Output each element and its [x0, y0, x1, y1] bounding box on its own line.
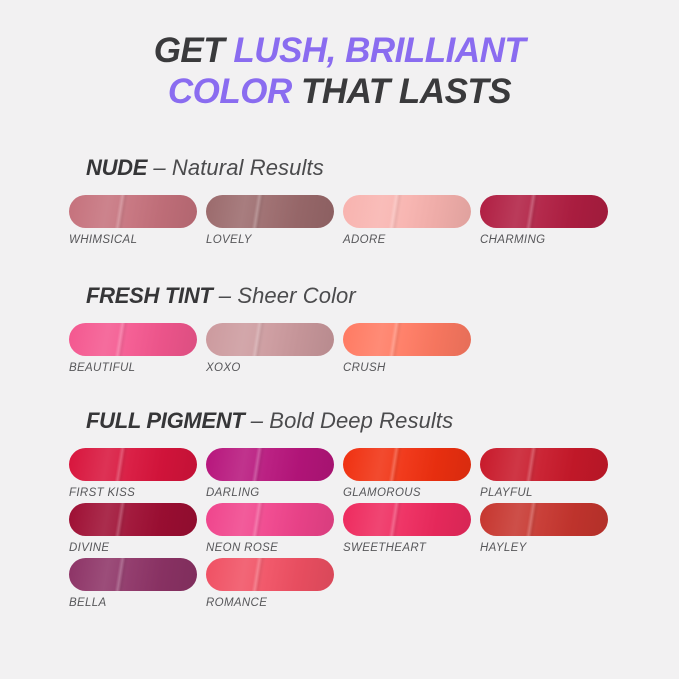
swatch-name-label: FIRST KISS — [69, 487, 197, 499]
swatch-item-playful[interactable]: PLAYFUL — [480, 448, 608, 499]
swatch-name-label: ADORE — [343, 234, 471, 246]
headline-get: GET — [154, 31, 234, 70]
swatch-row: BELLAROMANCE — [69, 558, 679, 613]
swatch-item-glamorous[interactable]: GLAMOROUS — [343, 448, 471, 499]
shade-chart-page: GET LUSH, BRILLIANT COLOR THAT LASTS NUD… — [0, 0, 679, 679]
swatch-item-sweetheart[interactable]: SWEETHEART — [343, 503, 471, 554]
section-subtitle-label: – Natural Results — [147, 155, 324, 180]
swatch-item-whimsical[interactable]: WHIMSICAL — [69, 195, 197, 246]
swatch-item-bella[interactable]: BELLA — [69, 558, 197, 609]
headline-color: COLOR — [168, 72, 292, 111]
headline-line-1: GET LUSH, BRILLIANT — [0, 30, 679, 71]
section-heading: FRESH TINT – Sheer Color — [0, 283, 679, 309]
swatch-name-label: SWEETHEART — [343, 542, 471, 554]
section-category-label: NUDE — [86, 155, 147, 180]
section-heading: NUDE – Natural Results — [0, 155, 679, 181]
swatch-color-chip[interactable] — [69, 323, 197, 356]
swatch-row: BEAUTIFULXOXOCRUSH — [69, 323, 679, 378]
swatch-name-label: ROMANCE — [206, 597, 334, 609]
swatch-name-label: DARLING — [206, 487, 334, 499]
swatch-name-label: CRUSH — [343, 362, 471, 374]
swatch-name-label: LOVELY — [206, 234, 334, 246]
section-category-label: FULL PIGMENT — [86, 408, 245, 433]
swatch-item-adore[interactable]: ADORE — [343, 195, 471, 246]
section-heading: FULL PIGMENT – Bold Deep Results — [0, 408, 679, 434]
swatch-color-chip[interactable] — [343, 323, 471, 356]
swatch-color-chip[interactable] — [206, 503, 334, 536]
swatch-row: WHIMSICALLOVELYADORECHARMING — [69, 195, 679, 250]
swatch-name-label: DIVINE — [69, 542, 197, 554]
swatch-item-darling[interactable]: DARLING — [206, 448, 334, 499]
swatch-name-label: XOXO — [206, 362, 334, 374]
swatch-grid: BEAUTIFULXOXOCRUSH — [0, 323, 679, 378]
headline-that-lasts: THAT LASTS — [292, 72, 511, 111]
swatch-name-label: GLAMOROUS — [343, 487, 471, 499]
swatch-color-chip[interactable] — [480, 195, 608, 228]
headline-lush-brilliant: LUSH, BRILLIANT — [233, 31, 525, 70]
swatch-item-xoxo[interactable]: XOXO — [206, 323, 334, 374]
swatch-item-first-kiss[interactable]: FIRST KISS — [69, 448, 197, 499]
swatch-color-chip[interactable] — [480, 503, 608, 536]
section-category-label: FRESH TINT — [86, 283, 213, 308]
section-full-pigment: FULL PIGMENT – Bold Deep ResultsFIRST KI… — [0, 408, 679, 613]
swatch-item-neon-rose[interactable]: NEON ROSE — [206, 503, 334, 554]
swatch-color-chip[interactable] — [69, 503, 197, 536]
section-fresh-tint: FRESH TINT – Sheer ColorBEAUTIFULXOXOCRU… — [0, 283, 679, 378]
swatch-color-chip[interactable] — [343, 503, 471, 536]
swatch-color-chip[interactable] — [69, 195, 197, 228]
swatch-color-chip[interactable] — [69, 448, 197, 481]
swatch-grid: WHIMSICALLOVELYADORECHARMING — [0, 195, 679, 250]
swatch-color-chip[interactable] — [206, 448, 334, 481]
swatch-row: FIRST KISSDARLINGGLAMOROUSPLAYFUL — [69, 448, 679, 503]
swatch-name-label: BEAUTIFUL — [69, 362, 197, 374]
swatch-name-label: BELLA — [69, 597, 197, 609]
swatch-name-label: NEON ROSE — [206, 542, 334, 554]
swatch-color-chip[interactable] — [206, 323, 334, 356]
swatch-grid: FIRST KISSDARLINGGLAMOROUSPLAYFULDIVINEN… — [0, 448, 679, 613]
headline-line-2: COLOR THAT LASTS — [0, 71, 679, 112]
swatch-color-chip[interactable] — [206, 558, 334, 591]
swatch-item-lovely[interactable]: LOVELY — [206, 195, 334, 246]
swatch-item-divine[interactable]: DIVINE — [69, 503, 197, 554]
swatch-name-label: CHARMING — [480, 234, 608, 246]
swatch-name-label: PLAYFUL — [480, 487, 608, 499]
section-subtitle-label: – Bold Deep Results — [245, 408, 454, 433]
swatch-item-romance[interactable]: ROMANCE — [206, 558, 334, 609]
swatch-name-label: HAYLEY — [480, 542, 608, 554]
swatch-color-chip[interactable] — [480, 448, 608, 481]
swatch-item-crush[interactable]: CRUSH — [343, 323, 471, 374]
page-title: GET LUSH, BRILLIANT COLOR THAT LASTS — [0, 30, 679, 112]
swatch-color-chip[interactable] — [343, 195, 471, 228]
swatch-color-chip[interactable] — [343, 448, 471, 481]
swatch-row: DIVINENEON ROSESWEETHEARTHAYLEY — [69, 503, 679, 558]
swatch-item-charming[interactable]: CHARMING — [480, 195, 608, 246]
swatch-color-chip[interactable] — [206, 195, 334, 228]
section-nude: NUDE – Natural ResultsWHIMSICALLOVELYADO… — [0, 155, 679, 250]
swatch-item-beautiful[interactable]: BEAUTIFUL — [69, 323, 197, 374]
swatch-color-chip[interactable] — [69, 558, 197, 591]
swatch-name-label: WHIMSICAL — [69, 234, 197, 246]
swatch-item-hayley[interactable]: HAYLEY — [480, 503, 608, 554]
section-subtitle-label: – Sheer Color — [213, 283, 356, 308]
